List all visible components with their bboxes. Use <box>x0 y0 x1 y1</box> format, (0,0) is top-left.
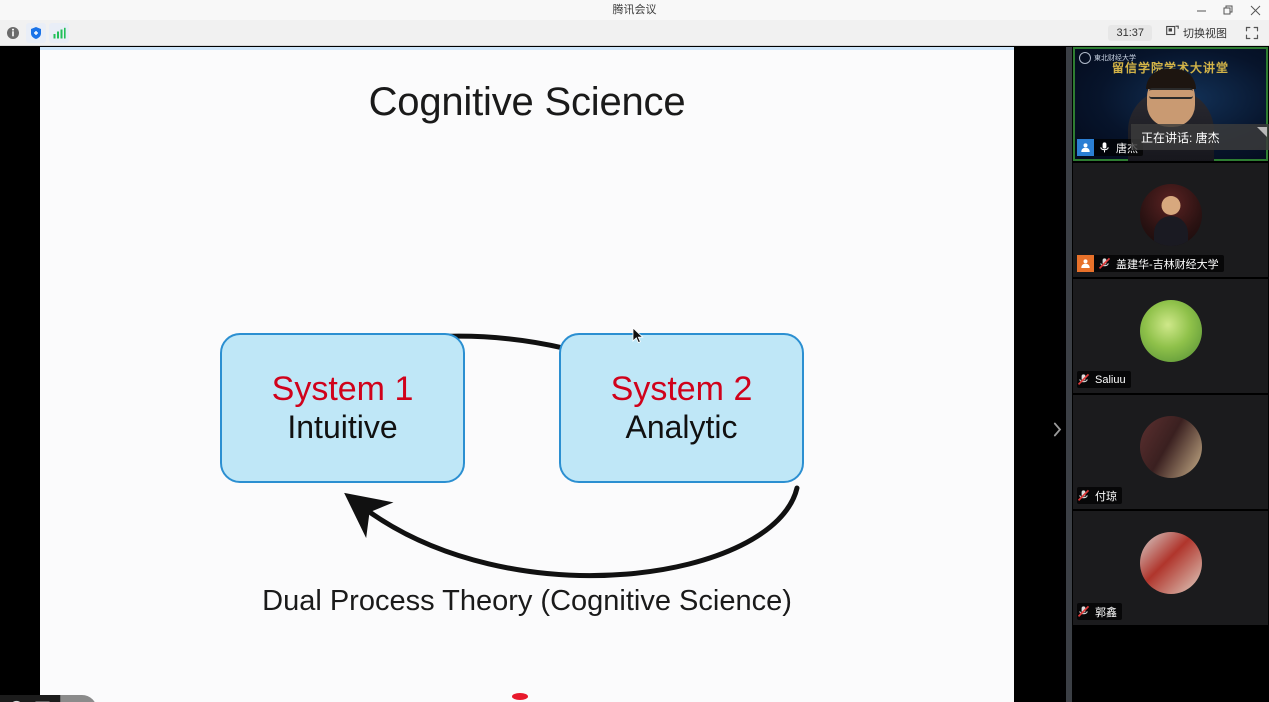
mic-muted-icon <box>1098 257 1112 271</box>
participant-label: 盖建华-吉林财经大学 <box>1077 255 1224 272</box>
close-button[interactable] <box>1242 0 1269 20</box>
fullscreen-icon[interactable] <box>1241 23 1263 43</box>
minimize-button[interactable] <box>1188 0 1215 20</box>
info-icon[interactable] <box>3 23 23 43</box>
floating-control-bar: ‹ <box>0 695 97 702</box>
avatar-head <box>1161 196 1180 215</box>
meeting-timer: 31:37 <box>1108 25 1152 41</box>
shared-screen-slide[interactable]: Cognitive Science System 1 Intuitive <box>40 47 1014 702</box>
node-system-1-subtitle: Intuitive <box>287 410 397 446</box>
cohost-badge-icon <box>1077 255 1094 272</box>
window-titlebar: 腾讯会议 <box>0 0 1269 20</box>
tencent-meeting-window: 腾讯会议 <box>0 0 1269 702</box>
shield-icon[interactable] <box>26 23 46 43</box>
avatar <box>1140 300 1202 362</box>
roster-expand-chevron-icon[interactable] <box>1048 418 1066 440</box>
switch-view-label: 切换视图 <box>1183 25 1227 41</box>
meeting-toolbar: 31:37 切换视图 <box>0 20 1269 46</box>
avatar-body <box>1154 216 1188 246</box>
avatar <box>1140 532 1202 594</box>
slide-caption: Dual Process Theory (Cognitive Science) <box>40 585 1014 618</box>
avatar <box>1140 416 1202 478</box>
mic-muted-icon <box>1077 489 1091 503</box>
dual-process-diagram: System 1 Intuitive System 2 Analytic <box>40 200 1014 540</box>
participant-tile-avatar[interactable]: 盖建华-吉林财经大学 <box>1073 163 1268 277</box>
node-system-2-title: System 2 <box>611 370 753 408</box>
participant-tile-avatar[interactable]: 郭鑫 <box>1073 511 1268 625</box>
participant-label: 郭鑫 <box>1077 603 1122 620</box>
node-system-2-subtitle: Analytic <box>625 410 737 446</box>
participant-name: 付琼 <box>1095 488 1117 504</box>
meeting-stage: Cognitive Science System 1 Intuitive <box>0 47 1269 702</box>
mouse-cursor <box>632 327 644 350</box>
window-title: 腾讯会议 <box>0 0 1269 20</box>
toolbar-left-group <box>0 23 69 43</box>
window-controls <box>1188 0 1269 20</box>
signal-bars-icon[interactable] <box>49 23 69 43</box>
participant-name: 盖建华-吉林财经大学 <box>1116 256 1219 272</box>
switch-view-button[interactable]: 切换视图 <box>1160 23 1233 43</box>
active-speaker-banner: 正在讲话: 唐杰 <box>1131 124 1269 150</box>
avatar <box>1140 184 1202 246</box>
slide-red-marker <box>512 693 528 700</box>
participant-tile-avatar[interactable]: Saliuu <box>1073 279 1268 393</box>
mic-muted-icon <box>1077 605 1091 619</box>
node-system-2: System 2 Analytic <box>559 333 804 483</box>
speaker-glasses <box>1149 88 1193 99</box>
maximize-restore-button[interactable] <box>1215 0 1242 20</box>
participant-label: 付琼 <box>1077 487 1122 504</box>
participant-name: 郭鑫 <box>1095 604 1117 620</box>
toolbar-right-group: 31:37 切换视图 <box>1108 23 1263 43</box>
host-badge-icon <box>1077 139 1094 156</box>
mic-unmuted-icon <box>1098 141 1112 155</box>
active-speaker-text: 正在讲话: 唐杰 <box>1141 129 1220 146</box>
node-system-1-title: System 1 <box>272 370 414 408</box>
participant-label: Saliuu <box>1077 371 1131 388</box>
participant-name: Saliuu <box>1095 374 1126 386</box>
floating-control-dark-group <box>0 695 60 702</box>
slide-title: Cognitive Science <box>40 80 1014 125</box>
banner-corner-fold-icon <box>1257 127 1267 137</box>
participant-tile-avatar[interactable]: 付琼 <box>1073 395 1268 509</box>
node-system-1: System 1 Intuitive <box>220 333 465 483</box>
view-grid-icon <box>1166 25 1179 41</box>
floating-bar-collapse-button[interactable]: ‹ <box>60 695 97 702</box>
mic-muted-icon <box>1077 373 1091 387</box>
